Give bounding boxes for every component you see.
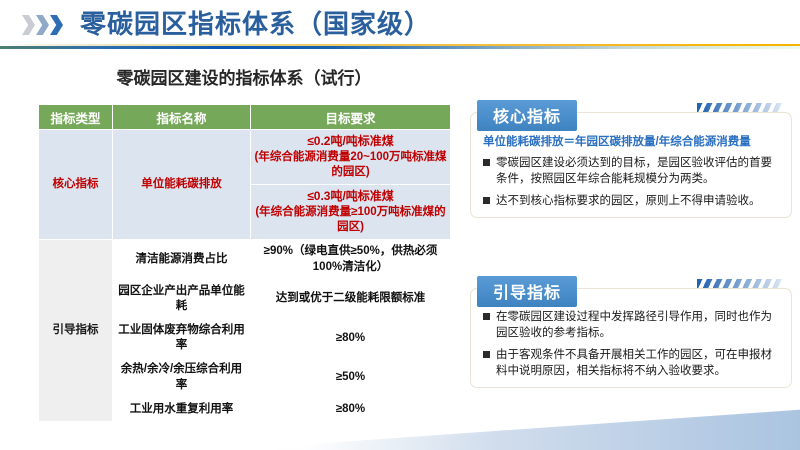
cell-core-requirement-2: ≤0.3吨/吨标准煤 (年综合能源消费量≥100万吨标准煤的园区)	[251, 185, 451, 240]
cell-guide-type: 引导指标	[39, 240, 113, 422]
column-header-name: 指标名称	[113, 105, 251, 130]
table-row: 核心指标 单位能耗碳排放 ≤0.2吨/吨标准煤 (年综合能源消费量20~100万…	[39, 130, 451, 185]
cell-guide-requirement-2: 达到或优于二级能耗限额标准	[251, 279, 451, 318]
core-card-badge: 核心指标	[477, 100, 577, 131]
cell-guide-name-2: 园区企业产出产品单位能耗	[113, 279, 251, 318]
core-card-formula: 单位能耗碳排放＝年园区碳排放量/年综合能源消费量	[483, 133, 779, 149]
cell-core-name: 单位能耗碳排放	[113, 130, 251, 240]
cell-guide-requirement-5: ≥80%	[251, 397, 451, 421]
slide-title-bar: 零碳园区指标体系（国家级）	[0, 0, 800, 48]
core-indicator-card: 核心指标 单位能耗碳排放＝年园区碳排放量/年综合能源消费量 零碳园区建设必须达到…	[470, 112, 792, 218]
diagonal-stripes-decoration-icon	[697, 103, 783, 112]
core-card-bullet-1: 零碳园区建设必须达到的目标，是园区验收评估的首要条件，按照园区年综合能耗规模分为…	[483, 155, 779, 188]
triple-chevron-right-icon	[22, 14, 78, 36]
cell-guide-name-1: 清洁能源消费占比	[113, 240, 251, 279]
cell-guide-name-3: 工业固体废弃物综合利用率	[113, 319, 251, 358]
guide-card-bullet-2-text: 由于客观条件不具备开展相关工作的园区，可在申报材料中说明原因，相关指标将不纳入验…	[496, 347, 779, 380]
diagonal-stripes-decoration-icon	[697, 279, 783, 288]
column-header-requirement: 目标要求	[251, 105, 451, 130]
cell-guide-name-5: 工业用水重复利用率	[113, 397, 251, 421]
square-bullet-icon	[483, 313, 490, 320]
core-req-2-main: ≤0.3吨/吨标准煤	[254, 189, 447, 205]
core-card-bullet-2-text: 达不到核心指标要求的园区，原则上不得申请验收。	[496, 193, 779, 209]
guide-card-bullet-2: 由于客观条件不具备开展相关工作的园区，可在申报材料中说明原因，相关指标将不纳入验…	[483, 347, 779, 380]
cell-core-requirement-1: ≤0.2吨/吨标准煤 (年综合能源消费量20~100万吨标准煤的园区)	[251, 130, 451, 185]
guide-card-bullet-1: 在零碳园区建设过程中发挥路径引导作用，同时也作为园区验收的参考指标。	[483, 309, 779, 342]
guide-card-bullet-1-text: 在零碳园区建设过程中发挥路径引导作用，同时也作为园区验收的参考指标。	[496, 309, 779, 342]
page-title: 零碳园区指标体系（国家级）	[80, 4, 431, 41]
cell-guide-requirement-3: ≥80%	[251, 319, 451, 358]
column-header-type: 指标类型	[39, 105, 113, 130]
square-bullet-icon	[483, 197, 490, 204]
table-row: 引导指标 清洁能源消费占比 ≥90%（绿电直供≥50%，供热必须100%清洁化）	[39, 240, 451, 279]
square-bullet-icon	[483, 159, 490, 166]
cell-guide-requirement-4: ≥50%	[251, 358, 451, 397]
square-bullet-icon	[483, 351, 490, 358]
core-req-1-note: (年综合能源消费量20~100万吨标准煤的园区)	[254, 150, 447, 180]
title-rule-primary	[0, 46, 800, 49]
table-header-row: 指标类型 指标名称 目标要求	[39, 105, 451, 130]
core-req-2-note: (年综合能源消费量≥100万吨标准煤的园区)	[254, 205, 447, 235]
core-card-bullet-1-text: 零碳园区建设必须达到的目标，是园区验收评估的首要条件，按照园区年综合能耗规模分为…	[496, 155, 779, 188]
core-req-1-main: ≤0.2吨/吨标准煤	[254, 134, 447, 150]
table-caption: 零碳园区建设的指标体系（试行）	[38, 64, 450, 89]
guide-indicator-card: 引导指标 在零碳园区建设过程中发挥路径引导作用，同时也作为园区验收的参考指标。 …	[470, 288, 792, 388]
cell-core-type: 核心指标	[39, 130, 113, 240]
indicator-table: 指标类型 指标名称 目标要求 核心指标 单位能耗碳排放 ≤0.2吨/吨标准煤 (…	[38, 104, 451, 422]
guide-card-badge: 引导指标	[477, 276, 577, 307]
core-card-bullet-2: 达不到核心指标要求的园区，原则上不得申请验收。	[483, 193, 779, 209]
cell-guide-requirement-1: ≥90%（绿电直供≥50%，供热必须100%清洁化）	[251, 240, 451, 279]
cell-guide-name-4: 余热/余冷/余压综合利用率	[113, 358, 251, 397]
